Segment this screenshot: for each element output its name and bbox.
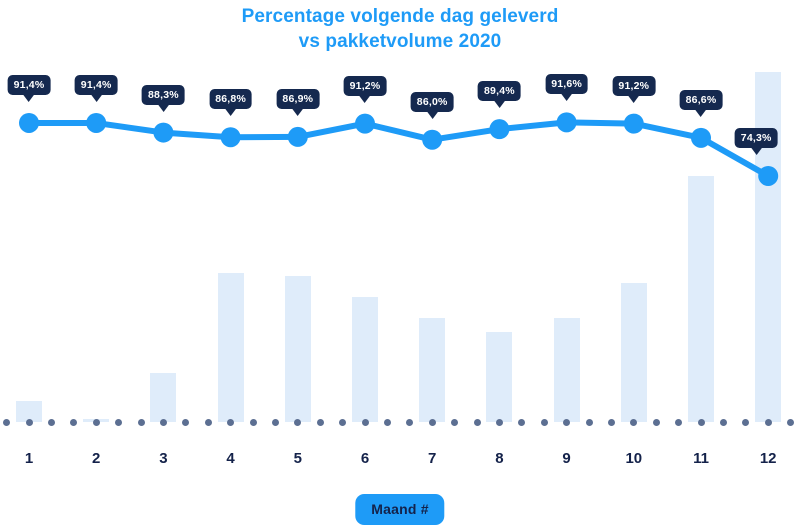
- data-label: 89,4%: [478, 81, 521, 101]
- data-point-marker[interactable]: [86, 113, 106, 133]
- data-point-marker[interactable]: [355, 114, 375, 134]
- x-tick-label: 12: [760, 450, 777, 467]
- x-tick-label: 5: [294, 450, 302, 467]
- data-label: 91,6%: [545, 74, 588, 94]
- data-point-marker[interactable]: [624, 114, 644, 134]
- line-series-percentage: [0, 0, 800, 440]
- data-point-marker[interactable]: [422, 130, 442, 150]
- x-axis-tick-labels: 123456789101112: [0, 450, 800, 480]
- data-point-marker[interactable]: [221, 127, 241, 147]
- data-label: 74,3%: [735, 128, 778, 148]
- data-point-marker[interactable]: [153, 123, 173, 143]
- x-tick-label: 4: [226, 450, 234, 467]
- data-label: 91,2%: [344, 76, 387, 96]
- x-tick-label: 9: [562, 450, 570, 467]
- data-point-marker[interactable]: [557, 112, 577, 132]
- data-label: 86,0%: [411, 92, 454, 112]
- data-label: 86,6%: [680, 90, 723, 110]
- data-point-marker[interactable]: [288, 127, 308, 147]
- x-tick-label: 1: [25, 450, 33, 467]
- chart-root: Percentage volgende dag geleverd vs pakk…: [0, 0, 800, 532]
- data-point-marker[interactable]: [691, 128, 711, 148]
- x-tick-label: 6: [361, 450, 369, 467]
- data-label: 91,4%: [75, 75, 118, 95]
- data-label: 86,9%: [276, 89, 319, 109]
- data-point-marker[interactable]: [19, 113, 39, 133]
- x-tick-label: 10: [625, 450, 642, 467]
- data-label: 91,4%: [8, 75, 51, 95]
- x-tick-label: 8: [495, 450, 503, 467]
- x-tick-label: 3: [159, 450, 167, 467]
- x-tick-label: 7: [428, 450, 436, 467]
- x-tick-label: 11: [693, 450, 709, 467]
- data-label: 88,3%: [142, 85, 185, 105]
- x-axis-title-badge: Maand #: [355, 494, 444, 525]
- line-path: [29, 122, 768, 176]
- data-point-marker[interactable]: [489, 119, 509, 139]
- plot-area: 91,4%91,4%88,3%86,8%86,9%91,2%86,0%89,4%…: [0, 0, 800, 440]
- data-label: 91,2%: [612, 76, 655, 96]
- data-point-marker[interactable]: [758, 166, 778, 186]
- data-label: 86,8%: [209, 89, 252, 109]
- x-tick-label: 2: [92, 450, 100, 467]
